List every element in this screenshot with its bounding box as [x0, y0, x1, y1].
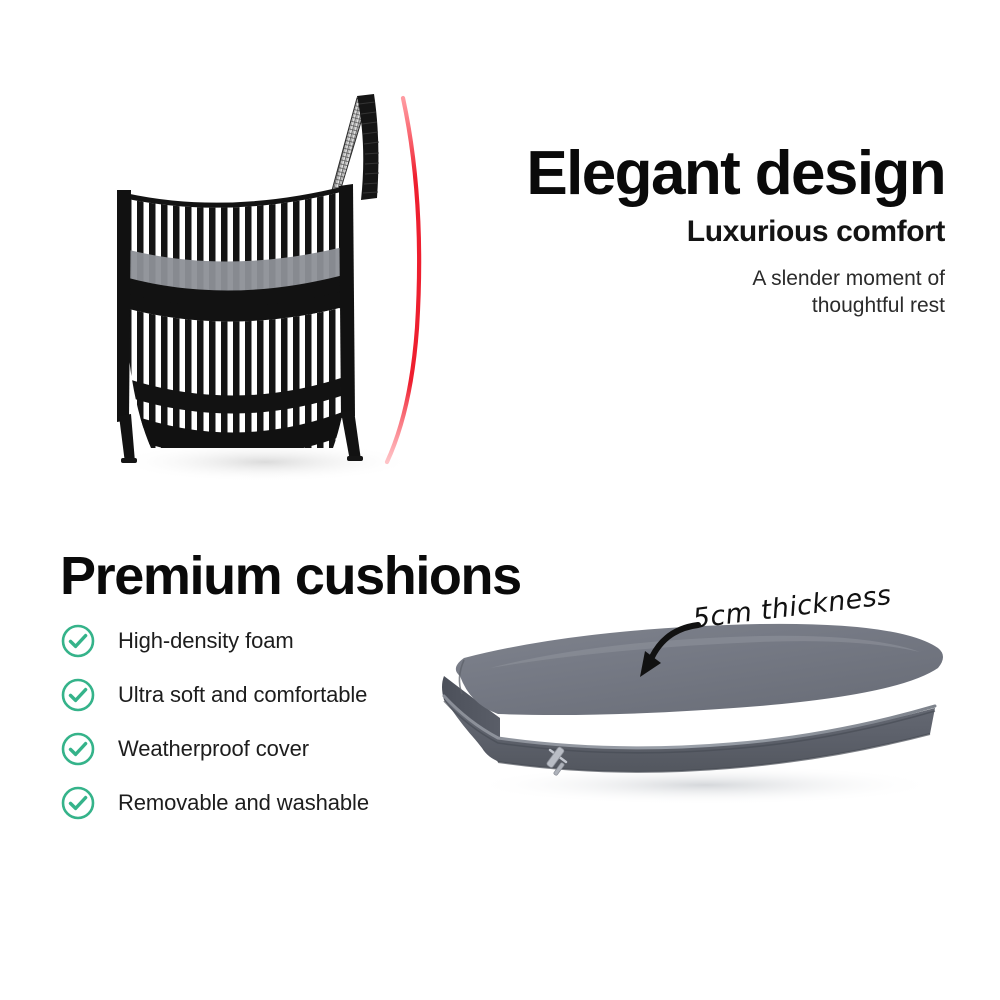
product-infographic-page: Elegant design Luxurious comfort A slend…: [0, 0, 1000, 1000]
chair-backrest-post: [357, 94, 379, 200]
list-item: High-density foam: [60, 622, 460, 659]
tagline-line-1: A slender moment of: [752, 267, 945, 290]
chair-rear-upright: [339, 184, 355, 418]
check-circle-icon: [60, 785, 96, 821]
feature-label: Weatherproof cover: [118, 736, 309, 762]
rattan-armchair-image: [95, 80, 475, 500]
headline-subtitle: Luxurious comfort: [475, 213, 945, 251]
list-item: Ultra soft and comfortable: [60, 676, 460, 713]
check-circle-icon: [60, 731, 96, 767]
red-accent-curve: [387, 98, 419, 462]
feature-label: Removable and washable: [118, 790, 369, 816]
headline-tagline: A slender moment ofthoughtful rest: [475, 265, 945, 320]
check-circle-icon: [60, 677, 96, 713]
list-item: Removable and washable: [60, 784, 460, 821]
list-item: Weatherproof cover: [60, 730, 460, 767]
page-title: Elegant design: [475, 142, 945, 205]
check-circle-icon: [60, 623, 96, 659]
feature-label: High-density foam: [118, 628, 294, 654]
feature-label: Ultra soft and comfortable: [118, 682, 367, 708]
cushion-top-face: [456, 624, 943, 715]
headline-block: Elegant design Luxurious comfort A slend…: [475, 142, 945, 320]
feature-list: High-density foam Ultra soft and comfort…: [60, 622, 460, 838]
chair-front-upright: [117, 190, 131, 422]
tagline-line-2: thoughtful rest: [812, 294, 945, 317]
chair-front-leg: [119, 414, 135, 463]
